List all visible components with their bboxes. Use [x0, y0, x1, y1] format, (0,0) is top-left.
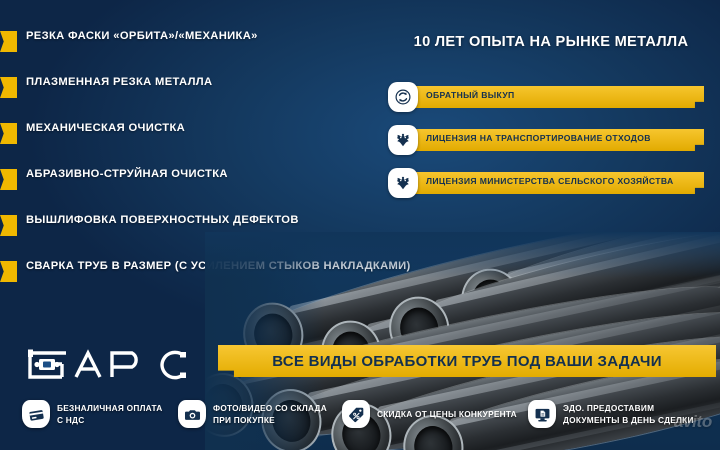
valve-detail: [34, 359, 59, 370]
feature-line1: ЭДО. ПРЕДОСТАВИМ: [563, 403, 654, 413]
service-label: ВЫШЛИФОВКА ПОВЕРХНОСТНЫХ ДЕФЕКТОВ: [26, 214, 299, 226]
feature-line1: БЕЗНАЛИЧНАЯ ОПЛАТА: [57, 403, 163, 413]
badge-label: ЛИЦЕНЗИЯ НА ТРАНСПОРТИРОВАНИЕ ОТХОДОВ: [426, 133, 651, 143]
recycle-arrows-icon: [388, 82, 418, 112]
service-item: РЕЗКА ФАСКИ «ОРБИТА»/«МЕХАНИКА»: [0, 28, 400, 74]
banner-text: ВСЕ ВИДЫ ОБРАБОТКИ ТРУБ ПОД ВАШИ ЗАДАЧИ: [218, 353, 716, 370]
credentials-badge-list: ОБРАТНЫЙ ВЫКУП ЛИЦЕНЗИЯ НА ТРАНСПОРТИРОВ…: [388, 84, 720, 213]
ribbon-marker-icon: [0, 123, 17, 144]
credential-badge: ЛИЦЕНЗИЯ НА ТРАНСПОРТИРОВАНИЕ ОТХОДОВ: [388, 127, 720, 153]
feature-item: ФОТО/ВИДЕО СО СКЛАДА ПРИ ПОКУПКЕ: [178, 400, 327, 428]
ribbon-marker-icon: [0, 261, 17, 282]
credit-card-icon: [22, 400, 50, 428]
ribbon-marker-icon: [0, 215, 17, 236]
service-label: ПЛАЗМЕННАЯ РЕЗКА МЕТАЛЛА: [26, 76, 212, 88]
ribbon-marker-icon: [0, 31, 17, 52]
service-label: МЕХАНИЧЕСКАЯ ОЧИСТКА: [26, 122, 185, 134]
company-logo: [22, 343, 194, 387]
discount-tag-icon: [342, 400, 370, 428]
badge-label: ЛИЦЕНЗИЯ МИНИСТЕРСТВА СЕЛЬСКОГО ХОЗЯЙСТВ…: [426, 176, 674, 186]
feature-line2: ПРИ ПОКУПКЕ: [213, 415, 275, 425]
feature-label: СКИДКА ОТ ЦЕНЫ КОНКУРЕНТА: [377, 408, 517, 420]
watermark: avito: [674, 412, 712, 432]
main-banner: ВСЕ ВИДЫ ОБРАБОТКИ ТРУБ ПОД ВАШИ ЗАДАЧИ: [218, 345, 716, 377]
badge-label: ОБРАТНЫЙ ВЫКУП: [426, 90, 515, 100]
service-label: АБРАЗИВНО-СТРУЙНАЯ ОЧИСТКА: [26, 168, 228, 180]
feature-line1: СКИДКА ОТ ЦЕНЫ КОНКУРЕНТА: [377, 409, 517, 419]
service-item: АБРАЗИВНО-СТРУЙНАЯ ОЧИСТКА: [0, 166, 400, 212]
ribbon-marker-icon: [0, 169, 17, 190]
feature-line2: С НДС: [57, 415, 84, 425]
ribbon-marker-icon: [0, 77, 17, 98]
advertisement-banner: РЕЗКА ФАСКИ «ОРБИТА»/«МЕХАНИКА» ПЛАЗМЕНН…: [0, 0, 720, 450]
credential-badge: ЛИЦЕНЗИЯ МИНИСТЕРСТВА СЕЛЬСКОГО ХОЗЯЙСТВ…: [388, 170, 720, 196]
feature-label: ФОТО/ВИДЕО СО СКЛАДА ПРИ ПОКУПКЕ: [213, 402, 327, 426]
feature-item: СКИДКА ОТ ЦЕНЫ КОНКУРЕНТА: [342, 400, 517, 428]
service-item: МЕХАНИЧЕСКАЯ ОЧИСТКА: [0, 120, 400, 166]
double-eagle-icon: [388, 168, 418, 198]
page-title: 10 ЛЕТ ОПЫТА НА РЫНКЕ МЕТАЛЛА: [396, 34, 706, 50]
feature-strip: БЕЗНАЛИЧНАЯ ОПЛАТА С НДС ФОТО/ВИДЕО СО С…: [0, 396, 720, 450]
service-label: РЕЗКА ФАСКИ «ОРБИТА»/«МЕХАНИКА»: [26, 30, 258, 42]
feature-line1: ФОТО/ВИДЕО СО СКЛАДА: [213, 403, 327, 413]
feature-item: ЭДО. ПРЕДОСТАВИМ ДОКУМЕНТЫ В ДЕНЬ СДЕЛКИ: [528, 400, 694, 428]
camera-icon: [178, 400, 206, 428]
service-item: ПЛАЗМЕННАЯ РЕЗКА МЕТАЛЛА: [0, 74, 400, 120]
document-monitor-icon: [528, 400, 556, 428]
feature-label: БЕЗНАЛИЧНАЯ ОПЛАТА С НДС: [57, 402, 163, 426]
double-eagle-icon: [388, 125, 418, 155]
photo-top-fade: [205, 232, 720, 278]
credential-badge: ОБРАТНЫЙ ВЫКУП: [388, 84, 720, 110]
feature-item: БЕЗНАЛИЧНАЯ ОПЛАТА С НДС: [22, 400, 163, 428]
